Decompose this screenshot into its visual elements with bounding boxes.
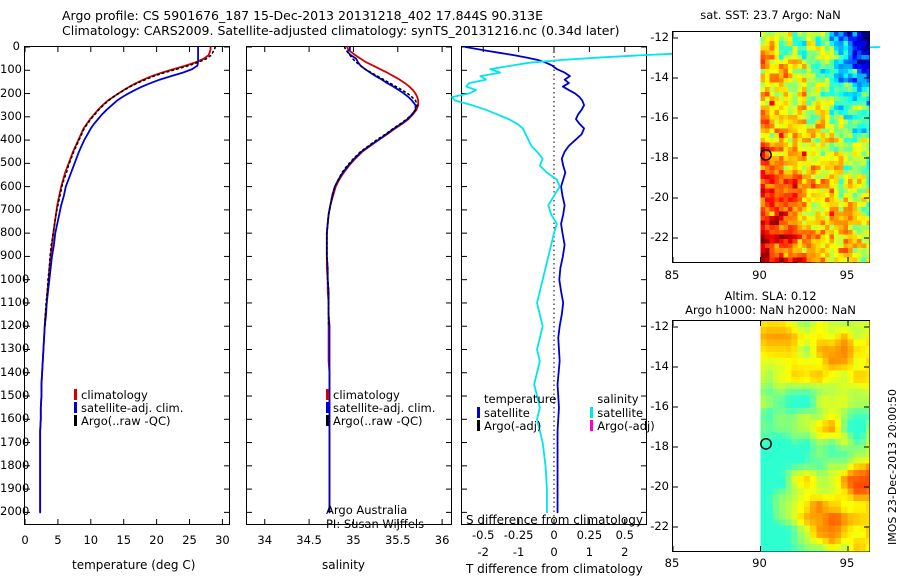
depth-tick-label: 1600 bbox=[0, 411, 20, 425]
legend-label-climatology: climatology bbox=[81, 388, 148, 402]
axis-tick-label: 35.5 bbox=[385, 533, 411, 547]
depth-tick-label: 500 bbox=[0, 155, 20, 169]
sst-map-panel bbox=[672, 31, 870, 263]
sst-map-title: sat. SST: 23.7 Argo: NaN bbox=[668, 8, 873, 22]
imos-timestamp: IMOS 23-Dec-2013 20:00:50 bbox=[886, 389, 899, 545]
legend-swatch-salinity-satellite bbox=[590, 407, 593, 418]
axis-tick-label: 15 bbox=[116, 533, 131, 547]
map-lon-tick-label: 95 bbox=[840, 556, 855, 570]
legend-label-temperature-satellite: satellite bbox=[484, 406, 530, 420]
axis-tick-label: 35 bbox=[346, 533, 361, 547]
depth-tick-label: 1700 bbox=[0, 435, 20, 449]
page-title-line2: Climatology: CARS2009. Satellite-adjuste… bbox=[62, 23, 619, 38]
credit-org: Argo Australia bbox=[326, 503, 424, 517]
legend-swatch-climatology-salinity bbox=[326, 389, 329, 400]
legend-swatch-temperature-argo bbox=[477, 420, 480, 431]
legend-label-temperature-argo: Argo(-adj) bbox=[484, 419, 541, 433]
depth-tick-label: 1200 bbox=[0, 318, 20, 332]
depth-tick-label: 900 bbox=[0, 248, 20, 262]
legend-item-temperature-argo: Argo(-adj) bbox=[477, 419, 556, 432]
depth-tick-label: 300 bbox=[0, 109, 20, 123]
map-lat-tick-label: -22 bbox=[645, 519, 669, 533]
axis-tick-label: 2 bbox=[621, 545, 628, 559]
axis-tick-label: 10 bbox=[83, 533, 98, 547]
legend-item-climatology-salinity: climatology bbox=[326, 388, 435, 401]
salinity-legend: climatology satellite-adj. clim. Argo(..… bbox=[326, 388, 435, 427]
legend-item-satellite-adj: satellite-adj. clim. bbox=[74, 401, 183, 414]
sla-map-canvas bbox=[673, 321, 869, 551]
legend-item-salinity-argo: Argo(-adj) bbox=[590, 419, 654, 432]
legend-item-argo-raw: Argo(..raw -QC) bbox=[74, 414, 183, 427]
difference-legend: temperature satellite Argo(-adj) salinit… bbox=[477, 392, 655, 432]
depth-tick-label: 1400 bbox=[0, 365, 20, 379]
map-lon-tick-label: 95 bbox=[840, 268, 855, 282]
legend-swatch-salinity-argo bbox=[590, 420, 593, 431]
legend-item-argo-raw-salinity: Argo(..raw -QC) bbox=[326, 414, 435, 427]
legend-swatch-argo-raw bbox=[74, 415, 77, 426]
legend-label-argo-raw: Argo(..raw -QC) bbox=[81, 414, 171, 428]
depth-tick-label: 0 bbox=[0, 39, 20, 53]
axis-tick-label: 0 bbox=[21, 533, 28, 547]
depth-tick-label: 700 bbox=[0, 202, 20, 216]
depth-tick-label: 200 bbox=[0, 86, 20, 100]
map-lon-tick-label: 90 bbox=[752, 268, 767, 282]
depth-tick-label: 100 bbox=[0, 62, 20, 76]
salinity-plot-area bbox=[247, 47, 451, 524]
map-lat-tick-label: -14 bbox=[645, 359, 669, 373]
credit-pi: PI: Susan Wijffels bbox=[326, 517, 424, 531]
axis-tick-label: 36 bbox=[435, 533, 450, 547]
sst-map-canvas bbox=[673, 32, 869, 262]
legend-swatch-argo-raw-salinity bbox=[326, 415, 329, 426]
depth-tick-label: 1100 bbox=[0, 295, 20, 309]
axis-tick-label: -0.5 bbox=[472, 528, 494, 542]
sla-map-panel bbox=[672, 320, 870, 552]
axis-tick-label: 0.25 bbox=[577, 528, 603, 542]
map-lat-tick-label: -16 bbox=[645, 110, 669, 124]
axis-tick-label: 34.5 bbox=[296, 533, 322, 547]
legend-label-satellite-adj: satellite-adj. clim. bbox=[81, 401, 183, 415]
depth-tick-label: 1900 bbox=[0, 481, 20, 495]
salinity-axis-label: salinity bbox=[322, 558, 365, 572]
depth-tick-label: 1000 bbox=[0, 272, 20, 286]
axis-tick-label: 0.5 bbox=[616, 528, 634, 542]
imos-timestamp-wrap: IMOS 23-Dec-2013 20:00:50 bbox=[886, 545, 900, 558]
credit-block: Argo Australia PI: Susan Wijffels bbox=[326, 503, 424, 531]
sla-map-title-line1: Altim. SLA: 0.12 bbox=[668, 289, 873, 303]
sla-map-title: Altim. SLA: 0.12 Argo h1000: NaN h2000: … bbox=[668, 289, 873, 317]
map-lat-tick-label: -18 bbox=[645, 439, 669, 453]
map-lon-tick-label: 85 bbox=[665, 268, 680, 282]
map-lon-tick-label: 85 bbox=[665, 556, 680, 570]
map-lat-tick-label: -22 bbox=[645, 230, 669, 244]
depth-tick-label: 2000 bbox=[0, 504, 20, 518]
map-lon-tick-label: 90 bbox=[752, 556, 767, 570]
axis-tick-label: 0 bbox=[550, 545, 557, 559]
legend-swatch-temperature-satellite bbox=[477, 407, 480, 418]
legend-label-climatology-salinity: climatology bbox=[333, 388, 400, 402]
depth-tick-label: 1800 bbox=[0, 458, 20, 472]
legend-swatch-satellite-adj bbox=[74, 402, 77, 413]
axis-tick-label: 5 bbox=[54, 533, 61, 547]
legend-swatch-climatology bbox=[74, 389, 77, 400]
axis-tick-label: -0.25 bbox=[504, 528, 534, 542]
salinity-profile-panel bbox=[246, 46, 452, 525]
axis-tick-label: 20 bbox=[149, 533, 164, 547]
depth-tick-label: 1300 bbox=[0, 341, 20, 355]
map-lat-tick-label: -12 bbox=[645, 319, 669, 333]
map-lat-tick-label: -16 bbox=[645, 399, 669, 413]
map-lat-tick-label: -12 bbox=[645, 30, 669, 44]
salinity-difference-axis-label: S difference from climatology bbox=[466, 513, 643, 527]
temperature-difference-axis-label: T difference from climatology bbox=[466, 562, 643, 576]
difference-panel bbox=[461, 46, 647, 525]
axis-tick-label: 1 bbox=[586, 545, 593, 559]
axis-tick-label: 25 bbox=[182, 533, 197, 547]
axis-tick-label: 30 bbox=[215, 533, 230, 547]
map-lat-tick-label: -20 bbox=[645, 479, 669, 493]
legend-label-salinity-argo: Argo(-adj) bbox=[597, 419, 654, 433]
temperature-legend: climatology satellite-adj. clim. Argo(..… bbox=[74, 388, 183, 427]
page-title-line1: Argo profile: CS 5901676_187 15-Dec-2013… bbox=[62, 8, 619, 23]
legend-item-climatology: climatology bbox=[74, 388, 183, 401]
depth-tick-label: 1500 bbox=[0, 388, 20, 402]
map-lat-tick-label: -18 bbox=[645, 150, 669, 164]
sla-map-title-line2: Argo h1000: NaN h2000: NaN bbox=[668, 303, 873, 317]
temperature-plot-area bbox=[25, 47, 229, 524]
axis-tick-label: -1 bbox=[513, 545, 524, 559]
legend-header-temperature: temperature bbox=[484, 392, 556, 406]
difference-plot-area bbox=[462, 47, 646, 524]
legend-label-satellite-adj-salinity: satellite-adj. clim. bbox=[333, 401, 435, 415]
legend-item-satellite-adj-salinity: satellite-adj. clim. bbox=[326, 401, 435, 414]
axis-tick-label: 34 bbox=[257, 533, 272, 547]
depth-tick-label: 400 bbox=[0, 132, 20, 146]
temperature-axis-label: temperature (deg C) bbox=[72, 558, 195, 572]
legend-label-argo-raw-salinity: Argo(..raw -QC) bbox=[333, 414, 423, 428]
temperature-profile-panel bbox=[24, 46, 230, 525]
depth-tick-label: 800 bbox=[0, 225, 20, 239]
map-lat-tick-label: -14 bbox=[645, 70, 669, 84]
legend-label-salinity-satellite: satellite bbox=[597, 406, 643, 420]
depth-tick-label: 600 bbox=[0, 179, 20, 193]
difference-legend-temperature-column: temperature satellite Argo(-adj) bbox=[477, 392, 556, 432]
legend-swatch-satellite-adj-salinity bbox=[326, 402, 329, 413]
map-lat-tick-label: -20 bbox=[645, 190, 669, 204]
axis-tick-label: 0 bbox=[550, 528, 557, 542]
legend-item-temperature-satellite: satellite bbox=[477, 406, 556, 419]
page-title: Argo profile: CS 5901676_187 15-Dec-2013… bbox=[62, 8, 619, 38]
axis-tick-label: -2 bbox=[477, 545, 488, 559]
